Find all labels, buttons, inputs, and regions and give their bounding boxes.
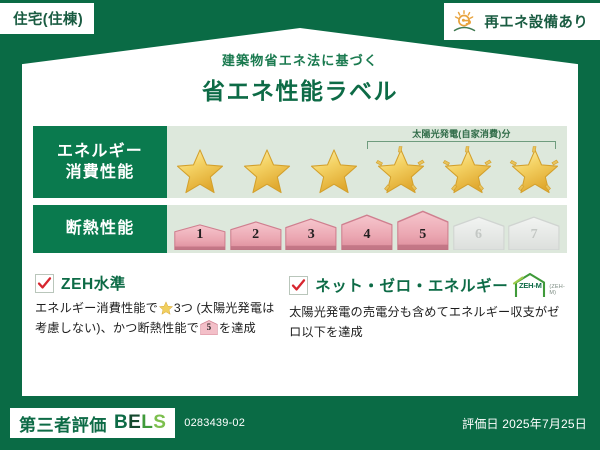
evaluation-date: 評価日 2025年7月25日 [462, 415, 587, 432]
inline-house-number: 5 [200, 320, 218, 335]
energy-label-line1: エネルギー [57, 141, 143, 162]
bels-wordmark: BELS [114, 412, 166, 434]
star-icon [243, 148, 291, 194]
criterion-net-zero-energy: ネット・ゼロ・エネルギー ZEH-M (ZEH-M) 太陽光発電の売電分も含めて… [289, 272, 565, 343]
label-body-panel: エネルギー 消費性能 太陽光発電(自家消費)分 [22, 112, 578, 396]
insulation-level-4: 4 [340, 214, 394, 250]
building-type-chip: 住宅(住棟) [0, 3, 94, 34]
title-main: 省エネ性能ラベル [0, 72, 600, 106]
insulation-level-scale: 1 2 [173, 208, 561, 250]
inline-star-icon [159, 301, 173, 315]
insulation-level-number: 7 [507, 227, 561, 243]
bels-letter-e: E [128, 412, 141, 433]
insulation-label-text: 断熱性能 [66, 218, 135, 239]
energy-performance-label-card: 住宅(住棟) 再エネ設備あり 建築物省エネ法に基づく 省エネ性能ラベル [0, 0, 600, 450]
title-subtitle: 建築物省エネ法に基づく [0, 50, 600, 69]
zeh-m-logo-text: ZEH-M [513, 281, 547, 290]
energy-star-rating [174, 146, 561, 196]
criterion-zeh-title: ZEH水準 [61, 272, 126, 294]
insulation-level-number: 6 [452, 227, 506, 243]
energy-performance-row: エネルギー 消費性能 太陽光発電(自家消費)分 [33, 126, 567, 198]
zeh-m-logo-sub: (ZEH-M) [549, 284, 565, 298]
insulation-level-1: 1 [173, 224, 227, 250]
energy-label-line2: 消費性能 [66, 162, 135, 183]
renewable-equipment-label: 再エネ設備あり [484, 11, 588, 32]
renewable-equipment-chip: 再エネ設備あり [444, 3, 600, 40]
check-icon [37, 276, 52, 291]
criterion-nze-title: ネット・ゼロ・エネルギー [315, 274, 508, 296]
bels-letter-l: L [141, 412, 153, 433]
criterion-zeh-header: ZEH水準 [35, 272, 277, 294]
insulation-level-number: 4 [340, 227, 394, 243]
star-3 [308, 146, 360, 196]
star-icon [310, 148, 358, 194]
insulation-level-number: 3 [284, 227, 338, 243]
building-type-label: 住宅(住棟) [13, 8, 83, 29]
criterion-zeh: ZEH水準 エネルギー消費性能で3つ (太陽光発電は考慮しない)、かつ断熱性能で… [35, 272, 277, 343]
insulation-level-6: 6 [452, 216, 506, 250]
label-header: 住宅(住棟) 再エネ設備あり 建築物省エネ法に基づく 省エネ性能ラベル [0, 0, 600, 112]
label-footer: 第三者評価 BELS 0283439-02 評価日 2025年7月25日 [0, 396, 600, 450]
criterion-nze-header: ネット・ゼロ・エネルギー ZEH-M (ZEH-M) [289, 272, 565, 298]
insulation-performance-row: 断熱性能 [33, 205, 567, 253]
third-party-evaluation-label: 第三者評価 [19, 411, 107, 436]
star-4-solar [375, 146, 427, 196]
inline-house-badge: 5 [200, 320, 218, 335]
energy-performance-body: 太陽光発電(自家消費)分 [167, 126, 567, 198]
insulation-performance-label: 断熱性能 [33, 205, 167, 253]
zeh-checkbox[interactable] [35, 274, 54, 293]
star-1 [174, 146, 226, 196]
energy-performance-label: エネルギー 消費性能 [33, 126, 167, 198]
insulation-level-2: 2 [229, 221, 283, 250]
criteria-section: ZEH水準 エネルギー消費性能で3つ (太陽光発電は考慮しない)、かつ断熱性能で… [22, 260, 578, 343]
zeh-desc-part1: エネルギー消費性能で [35, 301, 158, 315]
zeh-m-logo: ZEH-M (ZEH-M) [513, 272, 565, 298]
insulation-level-number: 1 [173, 227, 227, 243]
insulation-level-7: 7 [507, 216, 561, 250]
insulation-level-number: 5 [396, 227, 450, 243]
sun-renewable-icon [452, 9, 478, 35]
bels-logo-box: 第三者評価 BELS [10, 408, 175, 438]
label-title-block: 建築物省エネ法に基づく 省エネ性能ラベル [0, 50, 600, 106]
star-icon [444, 148, 492, 194]
insulation-level-5: 5 [396, 210, 450, 250]
bels-letter-s: S [153, 412, 166, 433]
insulation-level-3: 3 [284, 218, 338, 250]
check-icon [291, 278, 306, 293]
star-icon [176, 148, 224, 194]
star-5-solar [442, 146, 494, 196]
certificate-number: 0283439-02 [184, 417, 245, 429]
star-icon [511, 148, 559, 194]
bels-letter-b: B [114, 412, 128, 433]
star-2 [241, 146, 293, 196]
performance-rows: エネルギー 消費性能 太陽光発電(自家消費)分 [22, 112, 578, 253]
star-icon [377, 148, 425, 194]
star-6-solar [509, 146, 561, 196]
criterion-nze-description: 太陽光発電の売電分も含めてエネルギー収支がゼロ以下を達成 [289, 303, 565, 343]
insulation-performance-body: 1 2 [167, 205, 567, 253]
insulation-level-number: 2 [229, 227, 283, 243]
solar-bracket-text: 太陽光発電(自家消費)分 [365, 127, 558, 140]
criterion-zeh-description: エネルギー消費性能で3つ (太陽光発電は考慮しない)、かつ断熱性能で5を達成 [35, 299, 277, 339]
zeh-desc-part3: を達成 [219, 321, 256, 335]
nze-checkbox[interactable] [289, 276, 308, 295]
